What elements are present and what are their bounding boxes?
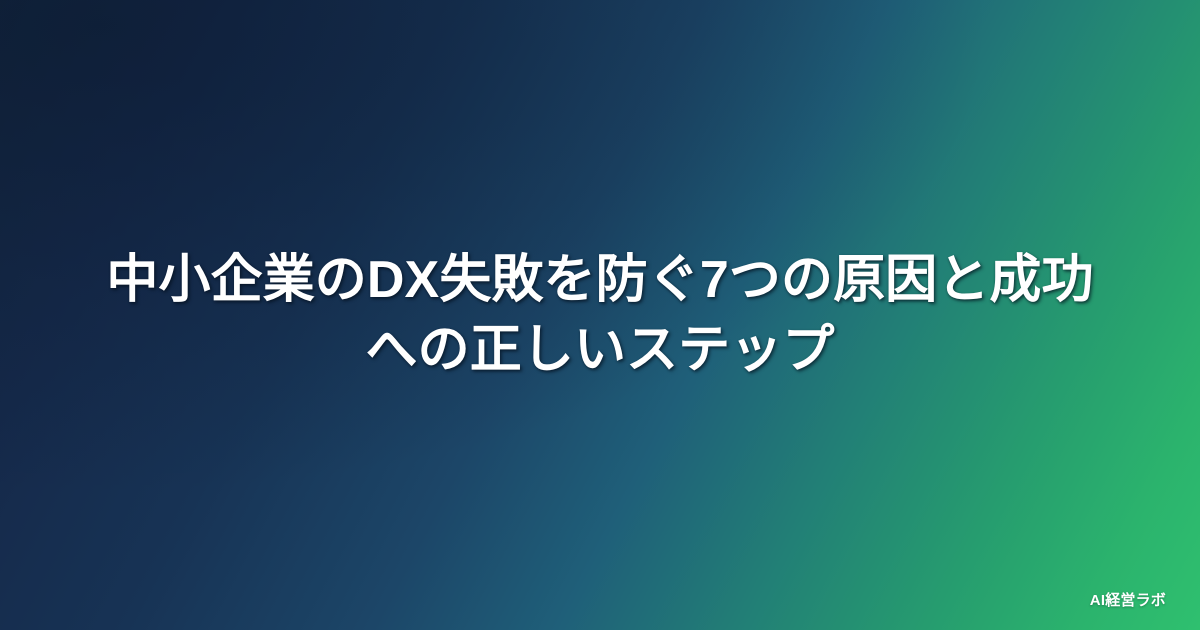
ogp-banner: 中小企業のDX失敗を防ぐ7つの原因と成功への正しいステップ AI経営ラボ: [0, 0, 1200, 630]
page-title: 中小企業のDX失敗を防ぐ7つの原因と成功への正しいステップ: [96, 245, 1104, 385]
title-block: 中小企業のDX失敗を防ぐ7つの原因と成功への正しいステップ: [0, 0, 1200, 630]
site-watermark: AI経営ラボ: [1090, 593, 1166, 608]
